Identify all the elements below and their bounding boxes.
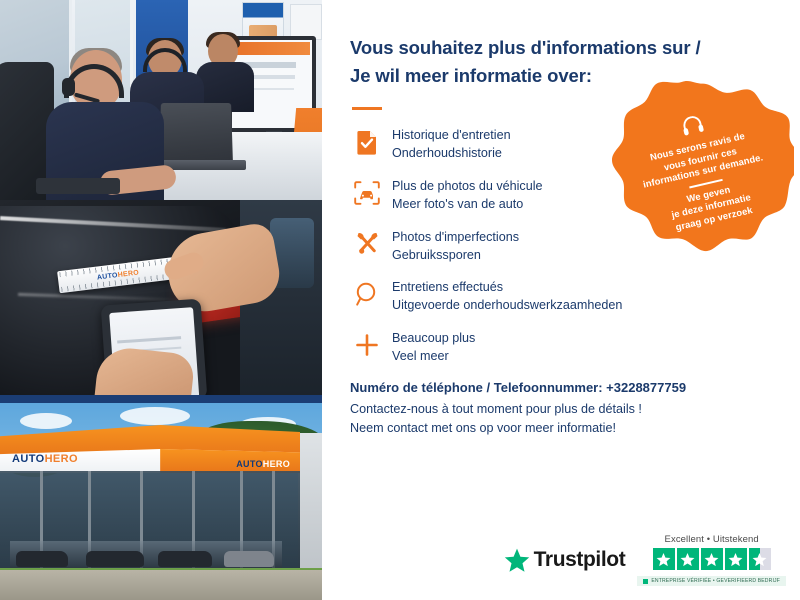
headset-icon	[680, 114, 705, 136]
trustpilot-verified-badge: ENTREPRISE VÉRIFIÉE • GEVERIFIEERD BEDRI…	[637, 576, 786, 586]
feature-text-fr: Beaucoup plus	[392, 330, 475, 348]
contact-block: Numéro de téléphone / Telefoonnummer: +3…	[350, 380, 772, 438]
feature-item-text: Beaucoup plus Veel meer	[392, 329, 475, 366]
document-check-icon	[350, 126, 384, 158]
contact-text-fr: Contactez-nous à tout moment pour plus d…	[350, 400, 772, 419]
brand-auto-text: AUTO	[236, 459, 263, 469]
feature-text-nl: Uitgevoerde onderhoudswerkzaamheden	[392, 297, 622, 315]
star-filled	[653, 548, 675, 570]
feature-text-fr: Photos d'imperfections	[392, 229, 519, 247]
trustpilot-brand: Trustpilot	[504, 548, 626, 573]
tools-icon	[350, 228, 384, 260]
star-filled	[701, 548, 723, 570]
feature-item-maintenance-done: Entretiens effectués Uitgevoerde onderho…	[350, 278, 772, 315]
brand-auto-text: AUTO	[97, 272, 119, 281]
phone-number-label[interactable]: Numéro de téléphone / Telefoonnummer: +3…	[350, 380, 772, 395]
car-scan-icon	[350, 177, 384, 209]
showroom-photo: AUTOHERO AUTOHERO	[0, 403, 322, 600]
feature-text-fr: Plus de photos du véhicule	[392, 178, 543, 196]
trustpilot-widget[interactable]: Trustpilot Excellent • Uitstekend	[504, 534, 786, 586]
showroom-sign-left: AUTOHERO	[12, 453, 78, 465]
vehicle-inspection-photo: AUTOHERO	[0, 200, 322, 403]
trustpilot-star-icon	[504, 548, 530, 573]
trustpilot-rating-label: Excellent • Uitstekend	[665, 534, 759, 545]
brand-hero-text: HERO	[263, 459, 290, 469]
call-center-photo	[0, 0, 322, 200]
plus-icon	[350, 329, 384, 361]
trustpilot-stars	[653, 548, 771, 570]
star-filled	[725, 548, 747, 570]
feature-text-nl: Gebruikssporen	[392, 247, 519, 265]
trustpilot-rating: Excellent • Uitstekend	[637, 534, 786, 586]
feature-item-much-more: Beaucoup plus Veel meer	[350, 329, 772, 366]
feature-item-text: Photos d'imperfections Gebruikssporen	[392, 228, 519, 265]
feature-item-text: Plus de photos du véhicule Meer foto's v…	[392, 177, 543, 214]
star-half	[749, 548, 771, 570]
callout-badge: Nous serons ravis de vous fournir ces in…	[612, 80, 794, 262]
photo-column: AUTOHERO	[0, 0, 322, 600]
title-divider	[352, 107, 382, 110]
showroom-sign-right: AUTOHERO	[236, 459, 290, 469]
magnifier-icon	[350, 278, 384, 310]
trustpilot-name: Trustpilot	[534, 548, 626, 572]
brand-hero-text: HERO	[117, 269, 139, 279]
flyer-page: AUTOHERO	[0, 0, 800, 600]
feature-item-text: Entretiens effectués Uitgevoerde onderho…	[392, 278, 622, 315]
page-title-line-fr: Vous souhaitez plus d'informations sur /	[350, 34, 750, 62]
brand-auto-text: AUTO	[12, 453, 45, 465]
feature-text-nl: Onderhoudshistorie	[392, 145, 511, 163]
feature-text-nl: Veel meer	[392, 348, 475, 366]
brand-hero-text: HERO	[45, 453, 78, 465]
contact-text-nl: Neem contact met ons op voor meer inform…	[350, 419, 772, 438]
feature-text-fr: Entretiens effectués	[392, 279, 622, 297]
trustpilot-verified-text: ENTREPRISE VÉRIFIÉE • GEVERIFIEERD BEDRI…	[651, 578, 780, 584]
feature-item-text: Historique d'entretien Onderhoudshistori…	[392, 126, 511, 163]
star-filled	[677, 548, 699, 570]
check-icon	[643, 579, 648, 584]
content-panel: Vous souhaitez plus d'informations sur /…	[322, 0, 800, 600]
feature-text-nl: Meer foto's van de auto	[392, 196, 543, 214]
feature-text-fr: Historique d'entretien	[392, 127, 511, 145]
